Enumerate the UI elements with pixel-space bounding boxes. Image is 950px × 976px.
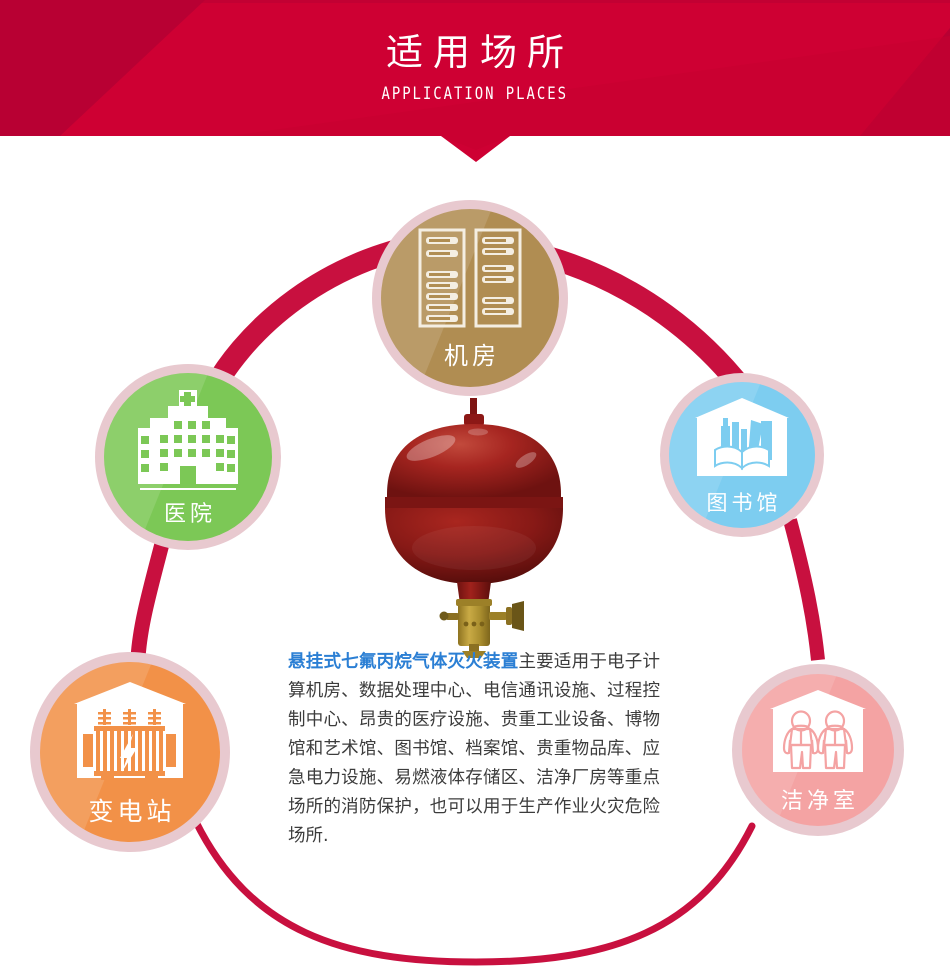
- node-disc-library: 图书馆: [669, 382, 815, 528]
- description-text: 主要适用于电子计算机房、数据处理中心、电信通讯设施、过程控制中心、昂贵的医疗设施…: [288, 652, 660, 846]
- node-disc-cleanroom: 洁净室: [742, 674, 894, 826]
- product-name-highlight: 悬挂式七氟丙烷气体灭火装置: [288, 652, 518, 672]
- cleanroom-workers-icon: [768, 688, 868, 783]
- node-disc-substation: 变电站: [40, 662, 220, 842]
- hospital-building-icon: [132, 388, 244, 495]
- hanging-gas-fire-extinguisher-image: [374, 398, 574, 658]
- node-server-room[interactable]: 机房: [372, 200, 568, 396]
- node-label-library: 图书馆: [703, 493, 782, 514]
- node-label-cleanroom: 洁净室: [777, 791, 859, 813]
- node-disc-server-room: 机房: [381, 209, 559, 387]
- node-cleanroom[interactable]: 洁净室: [732, 664, 904, 836]
- node-disc-hospital: 医院: [104, 373, 272, 541]
- node-label-substation: 变电站: [84, 799, 175, 824]
- node-hospital[interactable]: 医院: [95, 364, 281, 550]
- library-books-icon: [693, 396, 791, 485]
- node-library[interactable]: 图书馆: [660, 373, 824, 537]
- node-label-server-room: 机房: [440, 344, 500, 368]
- node-label-hospital: 医院: [160, 504, 216, 526]
- power-transformer-icon: [72, 680, 188, 789]
- description-paragraph: 悬挂式七氟丙烷气体灭火装置主要适用于电子计算机房、数据处理中心、电信通讯设施、过…: [288, 648, 660, 851]
- node-substation[interactable]: 变电站: [30, 652, 230, 852]
- page-root: 适用场所 APPLICATION PLACES: [0, 0, 950, 976]
- server-rack-icon: [418, 228, 522, 333]
